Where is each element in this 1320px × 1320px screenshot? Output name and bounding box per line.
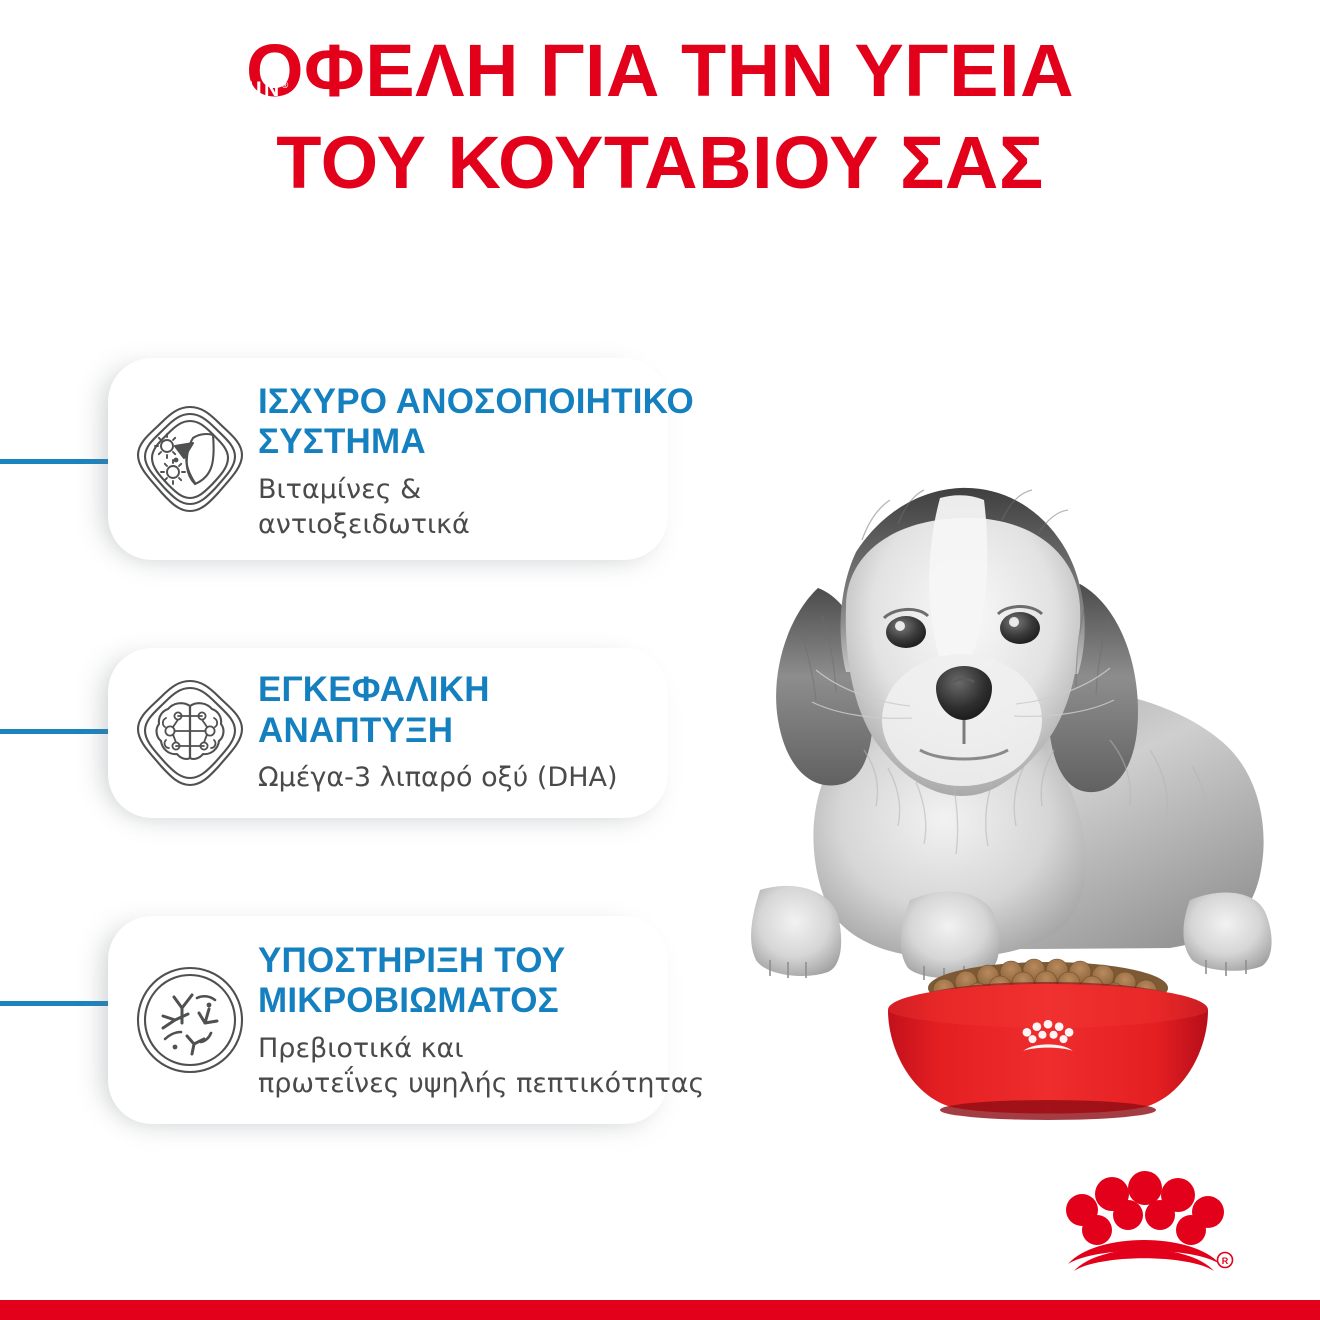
connector-line-1 <box>0 459 110 464</box>
benefit-sub-microbiome-line-2: πρωτεΐνες υψηλής πεπτικότητας <box>258 1068 704 1099</box>
benefit-card-microbiome: ΥΠΟΣΤΗΡΙΞΗ ΤΟΥ ΜΙΚΡΟΒΙΩΜΑΤΟΣ Πρεβιοτικά … <box>108 916 668 1124</box>
shield-germs-icon <box>108 400 258 518</box>
benefit-heading-microbiome-line-2: ΜΙΚΡΟΒΙΩΜΑΤΟΣ <box>258 981 559 1020</box>
benefit-heading-brain-line-1: ΕΓΚΕΦΑΛΙΚΗ <box>258 670 490 709</box>
footer-red-bar <box>0 1300 1320 1320</box>
page-title: ΟΦΕΛΗ ΓΙΑ ΤΗΝ ΥΓΕΙΑ ΤΟΥ ΚΟΥΤΑΒΙΟΥ ΣΑΣ <box>0 34 1320 200</box>
connector-line-3 <box>0 1001 110 1006</box>
benefit-sub-immune-line-1: Βιταμίνες & <box>258 474 421 505</box>
benefit-card-immune: ΙΣΧΥΡΟ ΑΝΟΣΟΠΟΙΗΤΙΚΟ ΣΥΣΤΗΜΑ Βιταμίνες &… <box>108 358 668 560</box>
brain-icon <box>108 674 258 792</box>
microbiome-icon <box>108 961 258 1079</box>
food-bowl <box>848 958 1248 1123</box>
benefit-heading-brain: ΕΓΚΕΦΑΛΙΚΗ ΑΝΑΠΤΥΞΗ <box>258 670 658 751</box>
page-title-line-1: ΟΦΕΛΗ ΓΙΑ ΤΗΝ ΥΓΕΙΑ <box>0 34 1320 108</box>
benefit-sub-brain-line-1: Ωμέγα-3 λιπαρό οξύ (DHA) <box>258 762 618 793</box>
benefit-sub-microbiome: Πρεβιοτικά και πρωτεΐνες υψηλής πεπτικότ… <box>258 1032 704 1101</box>
benefit-card-brain: ΕΓΚΕΦΑΛΙΚΗ ΑΝΑΠΤΥΞΗ Ωμέγα-3 λιπαρό οξύ (… <box>108 648 668 818</box>
benefit-heading-brain-line-2: ΑΝΑΠΤΥΞΗ <box>258 711 453 750</box>
benefit-sub-brain: Ωμέγα-3 λιπαρό οξύ (DHA) <box>258 761 658 796</box>
logo-trademark-symbol: R <box>1222 1256 1229 1266</box>
royal-canin-crown-logo: R <box>1040 1168 1240 1288</box>
benefit-sub-microbiome-line-1: Πρεβιοτικά και <box>258 1033 463 1064</box>
connector-line-2 <box>0 729 110 734</box>
benefit-heading-immune-line-2: ΣΥΣΤΗΜΑ <box>258 422 426 461</box>
page-title-line-2: ΤΟΥ ΚΟΥΤΑΒΙΟΥ ΣΑΣ <box>0 126 1320 200</box>
benefit-heading-immune-line-1: ΙΣΧΥΡΟ ΑΝΟΣΟΠΟΙΗΤΙΚΟ <box>258 382 694 421</box>
benefit-sub-immune-line-2: αντιοξειδωτικά <box>258 509 470 540</box>
puppy-photo <box>610 420 1320 1040</box>
benefit-heading-microbiome-line-1: ΥΠΟΣΤΗΡΙΞΗ ΤΟΥ <box>258 941 565 980</box>
